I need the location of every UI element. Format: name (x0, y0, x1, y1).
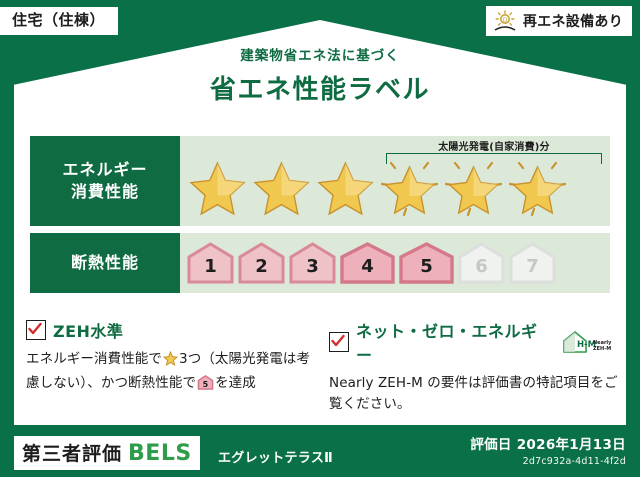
star-filled (186, 157, 249, 219)
zeh-m-logo-icon: H-M Nearly ZEH-M (560, 329, 618, 355)
renewable-equipment-badge: D 再エネ設備あり (486, 6, 632, 36)
svg-text:D: D (503, 17, 508, 24)
building-type-tag: 住宅（住棟） (0, 7, 118, 35)
label-main-title: 省エネ性能ラベル (0, 69, 640, 106)
star-solar (442, 157, 505, 219)
grade-badge-7-value: 7 (526, 256, 539, 285)
grade-badge-6: 6 (457, 241, 506, 285)
evaluation-id: 2d7c932a-4d11-4f2d (470, 456, 626, 467)
zeh-desc-part3: を達成 (215, 375, 256, 391)
star-rating (180, 143, 569, 219)
grade-badge-4-value: 4 (361, 256, 374, 285)
grade-badge-2: 2 (237, 241, 286, 285)
star-solar (378, 157, 441, 219)
insulation-row-label: 断熱性能 (30, 233, 180, 293)
insulation-row-body: 1 2 3 (180, 233, 610, 293)
zeh-standard-head: ZEH水準 (26, 318, 315, 342)
sun-icon: D (492, 10, 518, 32)
net-zero-energy-block: ネット・ゼロ・エネルギー H-M Nearly ZEH-M Nearly ZEH… (329, 318, 618, 415)
star-filled (314, 157, 377, 219)
zeh-standard-description: エネルギー消費性能で3つ（太陽光発電は考慮しない）、かつ断熱性能で5を達成 (26, 349, 315, 397)
inline-grade-badge-icon: 5 (197, 375, 214, 397)
svg-text:5: 5 (203, 380, 209, 389)
grade-badge-1-value: 1 (204, 256, 217, 285)
energy-performance-row: エネルギー 消費性能 太陽光発電(自家消費)分 (30, 136, 610, 226)
energy-row-body: 太陽光発電(自家消費)分 (180, 136, 610, 226)
grade-badge-5: 5 (398, 241, 455, 285)
net-zero-energy-checkbox[interactable] (329, 332, 349, 352)
energy-row-label-line1: エネルギー (62, 159, 147, 181)
energy-row-label-line2: 消費性能 (71, 181, 139, 203)
bels-badge: 第三者評価 BELS (14, 436, 200, 470)
check-icon (331, 334, 345, 348)
star-filled (250, 157, 313, 219)
building-name: エグレットテラスⅡ (218, 447, 333, 466)
insulation-performance-row: 断熱性能 1 2 (30, 233, 610, 293)
insulation-grade-scale: 1 2 3 (180, 241, 557, 285)
energy-row-label: エネルギー 消費性能 (30, 136, 180, 226)
zeh-standard-checkbox[interactable] (26, 320, 46, 340)
energy-label-root: 住宅（住棟） D 再エネ設備あり 建築物省エネ法に基づく 省エネ性能ラベル (0, 0, 640, 477)
net-zero-energy-title: ネット・ゼロ・エネルギー (356, 318, 551, 366)
evaluation-date-value: 2026年1月13日 (517, 437, 626, 453)
check-icon (28, 322, 42, 336)
star-solar (506, 157, 569, 219)
net-zero-energy-head: ネット・ゼロ・エネルギー H-M Nearly ZEH-M (329, 318, 618, 366)
criteria-checks: ZEH水準 エネルギー消費性能で3つ（太陽光発電は考慮しない）、かつ断熱性能で5… (26, 318, 618, 415)
grade-badge-3: 3 (288, 241, 337, 285)
grade-badge-1: 1 (186, 241, 235, 285)
footer-bar: 第三者評価 BELS エグレットテラスⅡ 評価日 2026年1月13日 2d7c… (0, 425, 640, 477)
grade-badge-3-value: 3 (306, 256, 319, 285)
grade-badge-5-value: 5 (420, 256, 433, 285)
grade-badge-6-value: 6 (475, 256, 488, 285)
evaluation-info: 評価日 2026年1月13日 2d7c932a-4d11-4f2d (470, 433, 626, 467)
performance-rows: エネルギー 消費性能 太陽光発電(自家消費)分 (30, 136, 610, 300)
evaluation-date-label: 評価日 (470, 437, 511, 453)
zeh-standard-title: ZEH水準 (53, 318, 123, 342)
bels-jp-label: 第三者評価 (22, 439, 122, 466)
label-subtitle: 建築物省エネ法に基づく (0, 44, 640, 64)
title-block: 建築物省エネ法に基づく 省エネ性能ラベル (0, 44, 640, 106)
evaluation-date: 評価日 2026年1月13日 (470, 433, 626, 453)
bels-en-label: BELS (128, 441, 192, 466)
svg-text:ZEH-M: ZEH-M (593, 346, 611, 352)
net-zero-energy-description: Nearly ZEH-M の要件は評価書の特記項目をご覧ください。 (329, 373, 618, 415)
grade-badge-4: 4 (339, 241, 396, 285)
inline-star-icon (163, 351, 178, 373)
grade-badge-7: 7 (508, 241, 557, 285)
renewable-badge-label: 再エネ設備あり (523, 11, 623, 31)
zeh-desc-part1: エネルギー消費性能で (26, 351, 162, 367)
grade-badge-2-value: 2 (255, 256, 268, 285)
zeh-standard-block: ZEH水準 エネルギー消費性能で3つ（太陽光発電は考慮しない）、かつ断熱性能で5… (26, 318, 315, 415)
